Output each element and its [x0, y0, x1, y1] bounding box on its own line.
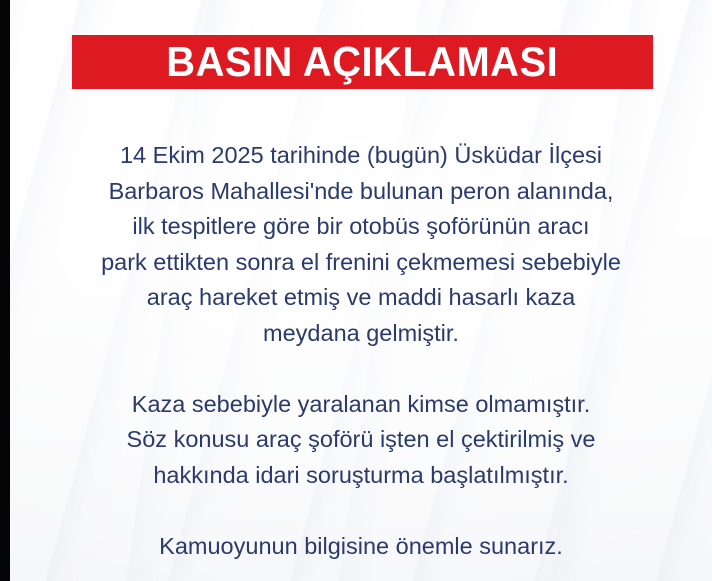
text-line: Söz konusu araç şoförü işten el çektiril… — [10, 422, 712, 458]
text-line: araç hareket etmiş ve maddi hasarlı kaza — [10, 280, 712, 316]
paragraph: Kamuoyunun bilgisine önemle sunarız. — [10, 529, 712, 565]
announcement-body: 14 Ekim 2025 tarihinde (bugün) Üsküdar İ… — [10, 138, 712, 564]
text-line: Barbaros Mahallesi'nde bulunan peron ala… — [10, 174, 712, 210]
page-title: BASIN AÇIKLAMASI — [167, 40, 559, 84]
text-line: park ettikten sonra el frenini çekmemesi… — [10, 245, 712, 281]
press-release-poster: BASIN AÇIKLAMASI 14 Ekim 2025 tarihinde … — [0, 0, 712, 581]
text-line: ilk tespitlere göre bir otobüs şoförünün… — [10, 209, 712, 245]
text-line: Kamuoyunun bilgisine önemle sunarız. — [10, 529, 712, 565]
text-line: meydana gelmiştir. — [10, 316, 712, 352]
text-line: 14 Ekim 2025 tarihinde (bugün) Üsküdar İ… — [10, 138, 712, 174]
text-line: Kaza sebebiyle yaralanan kimse olmamıştı… — [10, 387, 712, 423]
left-edge-band — [0, 0, 10, 581]
headline-banner: BASIN AÇIKLAMASI — [72, 35, 653, 89]
paragraph: 14 Ekim 2025 tarihinde (bugün) Üsküdar İ… — [10, 138, 712, 351]
text-line: hakkında idari soruşturma başlatılmıştır… — [10, 458, 712, 494]
paragraph: Kaza sebebiyle yaralanan kimse olmamıştı… — [10, 387, 712, 494]
